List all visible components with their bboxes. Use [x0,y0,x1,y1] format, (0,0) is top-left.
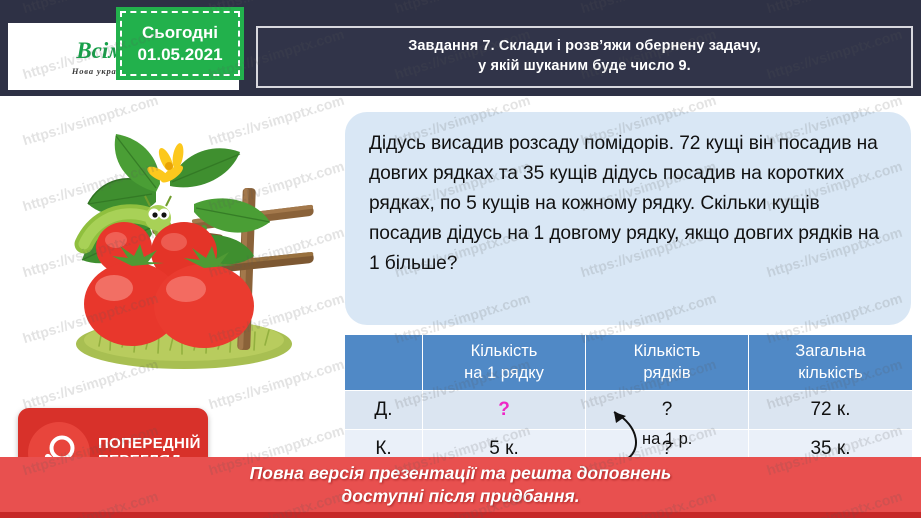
date-badge-label: Сьогодні [142,22,218,44]
table-header-per-row: Кількістьна 1 рядку [423,335,586,391]
purchase-banner-line2: доступні після придбання. [250,485,672,508]
table-header-row: Кількістьна 1 рядку Кількістьрядків Зага… [345,335,913,391]
table-header-corner [345,335,423,391]
date-badge-value: 01.05.2021 [137,44,222,66]
purchase-banner-text: Повна версія презентації та решта доповн… [250,462,672,508]
table-header-total: Загальнакількість [749,335,913,391]
date-badge: Сьогодні 01.05.2021 [116,7,244,80]
row-label-d: Д. [345,391,423,430]
table-header-rows-count: Кількістьрядків [586,335,749,391]
task-title: Завдання 7. Склади і розв’яжи обернену з… [394,37,775,76]
solution-table: Кількістьна 1 рядку Кількістьрядків Зага… [344,334,913,469]
table-row: Д. ? ? 72 к. [345,391,913,430]
problem-statement-box: Дідусь висадив розсаду помідорів. 72 кущ… [345,112,911,325]
problem-statement-text: Дідусь висадив розсаду помідорів. 72 кущ… [345,112,911,279]
purchase-banner: Повна версія презентації та решта доповн… [0,457,921,518]
cell-d-per-row: ? [423,391,586,430]
preview-badge-line1: ПОПЕРЕДНІЙ [98,436,201,453]
purchase-banner-line1: Повна версія презентації та решта доповн… [250,462,672,485]
cell-d-total: 72 к. [749,391,913,430]
task-title-panel: Завдання 7. Склади і розв’яжи обернену з… [256,26,913,88]
tomato-plant-illustration [44,126,319,376]
cell-d-rows-count: ? [586,391,749,430]
slide-canvas: Завдання 7. Склади і розв’яжи обернену з… [0,0,921,518]
